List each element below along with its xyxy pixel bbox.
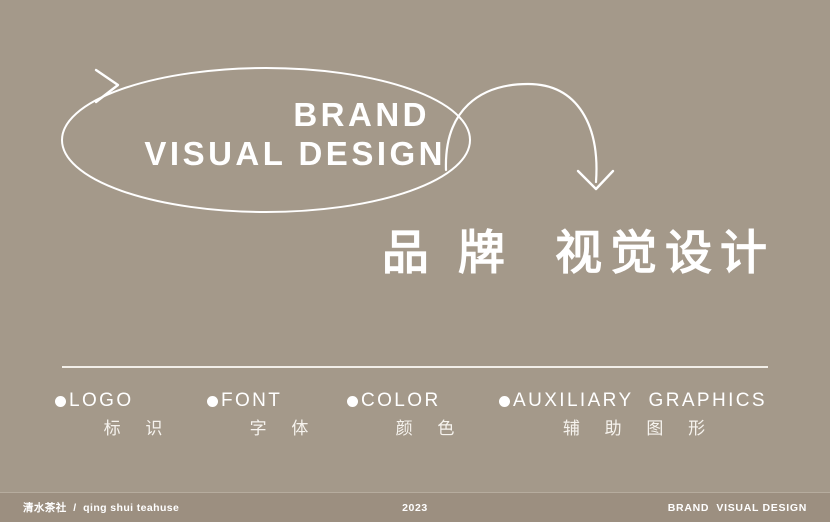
feature-list: LOGO 标 识 FONT 字 体 COLOR 颜 色 AUXILIARY GR… [55,390,775,439]
poster-canvas: BRAND VISUAL DESIGN 品 牌 视觉设计 LOGO 标 识 FO… [0,0,830,522]
feature-en-row: AUXILIARY GRAPHICS [499,390,767,412]
headline-line-2: VISUAL DESIGN [0,134,448,174]
feature-item-color: COLOR 颜 色 [347,390,499,439]
feature-en-row: COLOR [347,390,499,412]
feature-en-label: COLOR [361,390,441,412]
curved-arrow-shape [446,84,597,182]
feature-cn-label: 颜 色 [347,419,499,439]
feature-en-label: LOGO [69,390,134,412]
feature-en-row: LOGO [55,390,207,412]
footer-tagline: BRAND VISUAL DESIGN [668,502,807,514]
headline-line-1: BRAND [0,96,448,134]
horizontal-divider [62,366,768,368]
feature-cn-label: 辅 助 图 形 [499,419,767,439]
headline-block: BRAND VISUAL DESIGN [0,96,448,174]
feature-cn-label: 字 体 [207,419,347,439]
feature-item-font: FONT 字 体 [207,390,347,439]
feature-en-label: AUXILIARY GRAPHICS [513,390,767,412]
feature-en-row: FONT [207,390,347,412]
chinese-headline: 品 牌 视觉设计 [0,225,775,281]
feature-cn-label: 标 识 [55,419,207,439]
footer-bar: 清水茶社 / qing shui teahuse 2023 BRAND VISU… [0,492,830,522]
feature-item-auxiliary-graphics: AUXILIARY GRAPHICS 辅 助 图 形 [499,390,767,439]
arrow-head-down-icon [578,171,613,189]
dot-bullet-icon [207,396,218,407]
dot-bullet-icon [499,396,510,407]
dot-bullet-icon [55,396,66,407]
feature-en-label: FONT [221,390,282,412]
dot-bullet-icon [347,396,358,407]
feature-item-logo: LOGO 标 识 [55,390,207,439]
